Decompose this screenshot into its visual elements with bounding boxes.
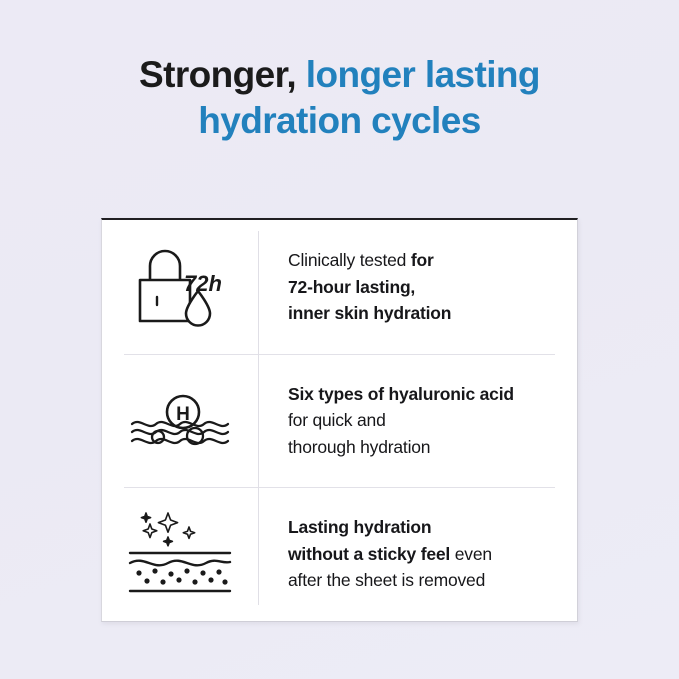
icon-cell-hyaluronic: H: [102, 384, 258, 458]
card-vertical-divider: [258, 231, 259, 605]
feature-text-nonsticky: Lasting hydration without a sticky feel …: [258, 514, 577, 594]
feature-row-nonsticky: Lasting hydration without a sticky feel …: [102, 487, 577, 621]
feature-text-line: for quick and: [288, 410, 386, 430]
feature-text-line: after the sheet is removed: [288, 570, 485, 590]
feature-text-line: 72-hour lasting,: [288, 277, 415, 297]
svg-text:72h: 72h: [184, 271, 222, 296]
feature-text-72h: Clinically tested for 72-hour lasting, i…: [258, 247, 577, 327]
icon-cell-72h: 72h: [102, 245, 258, 329]
feature-text-hyaluronic: Six types of hyaluronic acid for quick a…: [258, 381, 577, 461]
feature-rows: 72h Clinically tested for 72-hour lastin…: [102, 220, 577, 621]
feature-text-line: for: [411, 250, 434, 270]
features-card: 72h Clinically tested for 72-hour lastin…: [101, 218, 578, 622]
headline-blue-text-line2: hydration cycles: [198, 100, 480, 141]
feature-text-line: without a sticky feel: [288, 544, 450, 564]
feature-row-hyaluronic: H Six types of hyaluronic acid fo: [102, 354, 577, 488]
infographic-page: Stronger, longer lasting hydration cycle…: [0, 0, 679, 679]
feature-text-line: inner skin hydration: [288, 303, 451, 323]
headline-black-text: Stronger,: [139, 54, 296, 95]
page-title: Stronger, longer lasting hydration cycle…: [0, 52, 679, 144]
feature-row-72h: 72h Clinically tested for 72-hour lastin…: [102, 220, 577, 354]
skin-layers-sparkles-icon: [126, 507, 234, 601]
feature-text-line: even: [450, 544, 492, 564]
feature-text-line: Lasting hydration: [288, 517, 431, 537]
water-waves-hyaluronic-icon: H: [128, 384, 232, 458]
lock-72h-droplet-icon: 72h: [128, 245, 232, 329]
headline-blue-text-line1: longer lasting: [296, 54, 540, 95]
icon-cell-nonsticky: [102, 507, 258, 601]
feature-text-line: Clinically tested: [288, 250, 411, 270]
feature-text-line: Six types of hyaluronic acid: [288, 384, 514, 404]
feature-text-line: thorough hydration: [288, 437, 430, 457]
